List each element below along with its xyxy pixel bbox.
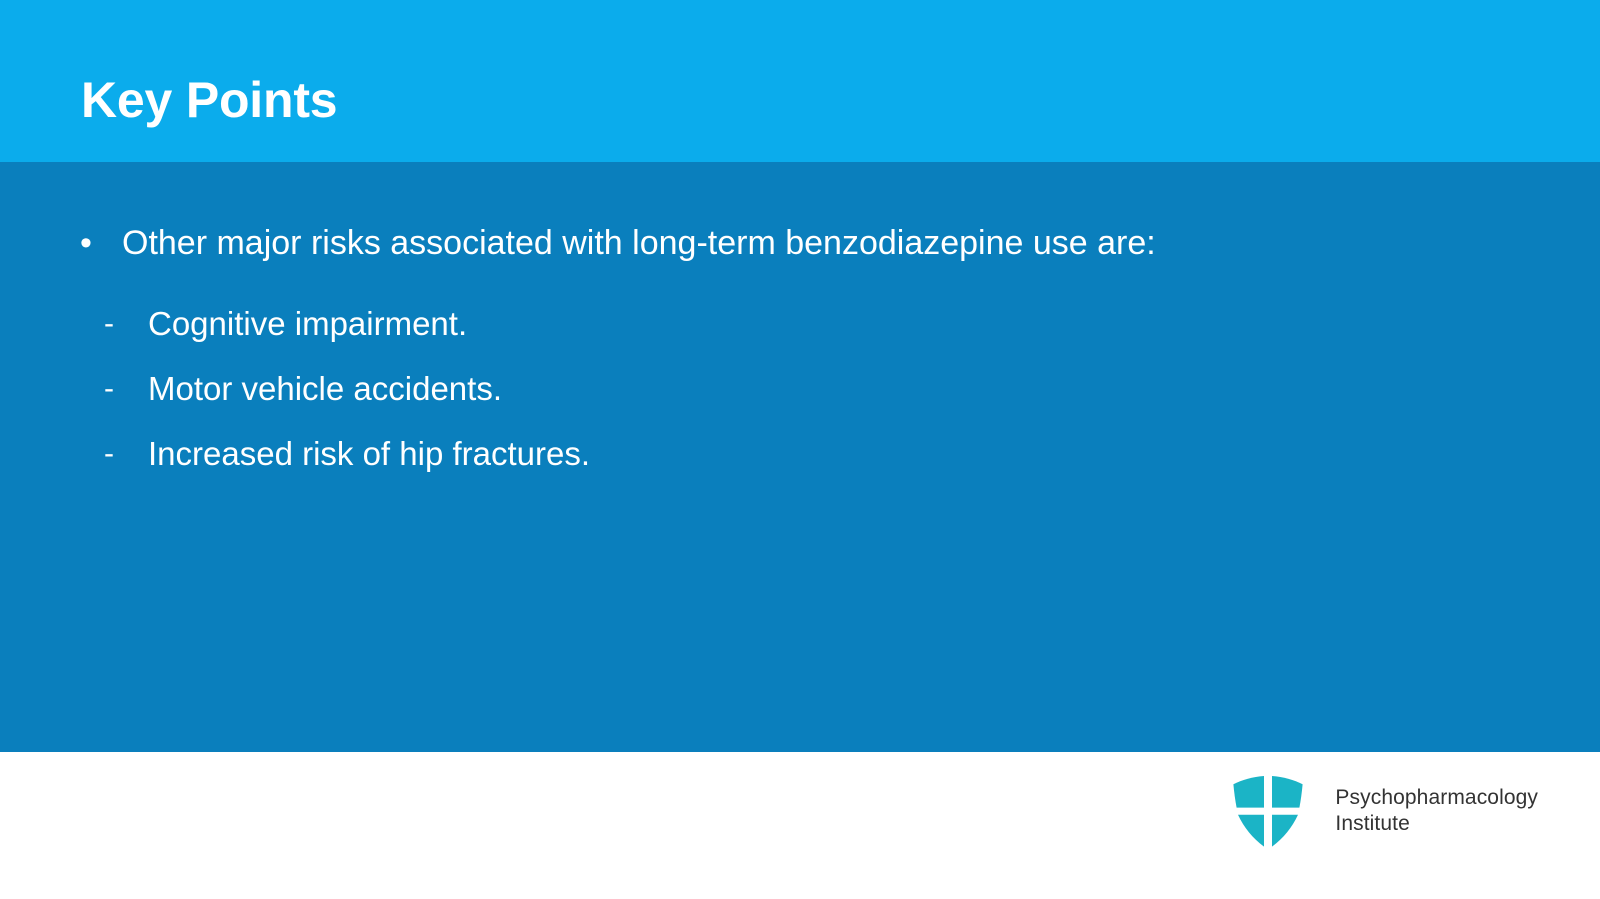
sub-bullet-text: Increased risk of hip fractures. <box>148 432 1496 476</box>
sub-bullet-text: Cognitive impairment. <box>148 302 1496 346</box>
sub-bullet-list: - Cognitive impairment. - Motor vehicle … <box>96 302 1496 497</box>
list-item: - Motor vehicle accidents. <box>96 367 1496 432</box>
list-item: • Other major risks associated with long… <box>72 220 1552 266</box>
sub-bullet-text: Motor vehicle accidents. <box>148 367 1496 411</box>
shield-quadrant-icon <box>1231 772 1305 850</box>
slide-footer: Psychopharmacology Institute <box>0 752 1600 899</box>
brand-wordmark-line2: Institute <box>1335 811 1538 837</box>
brand-wordmark: Psychopharmacology Institute <box>1335 785 1538 837</box>
list-item: - Increased risk of hip fractures. <box>96 432 1496 497</box>
slide-header-band: Key Points <box>0 0 1600 162</box>
brand-wordmark-line1: Psychopharmacology <box>1335 785 1538 811</box>
brand-logo: Psychopharmacology Institute <box>1231 772 1538 850</box>
list-item: - Cognitive impairment. <box>96 302 1496 367</box>
dash-marker-icon: - <box>96 302 148 346</box>
bullet-text: Other major risks associated with long-t… <box>122 220 1552 266</box>
dash-marker-icon: - <box>96 432 148 476</box>
page-title: Key Points <box>81 71 337 129</box>
dash-marker-icon: - <box>96 367 148 411</box>
bullet-dot-icon: • <box>72 220 122 266</box>
slide-body-panel: • Other major risks associated with long… <box>0 162 1600 752</box>
slide: Key Points • Other major risks associate… <box>0 0 1600 899</box>
